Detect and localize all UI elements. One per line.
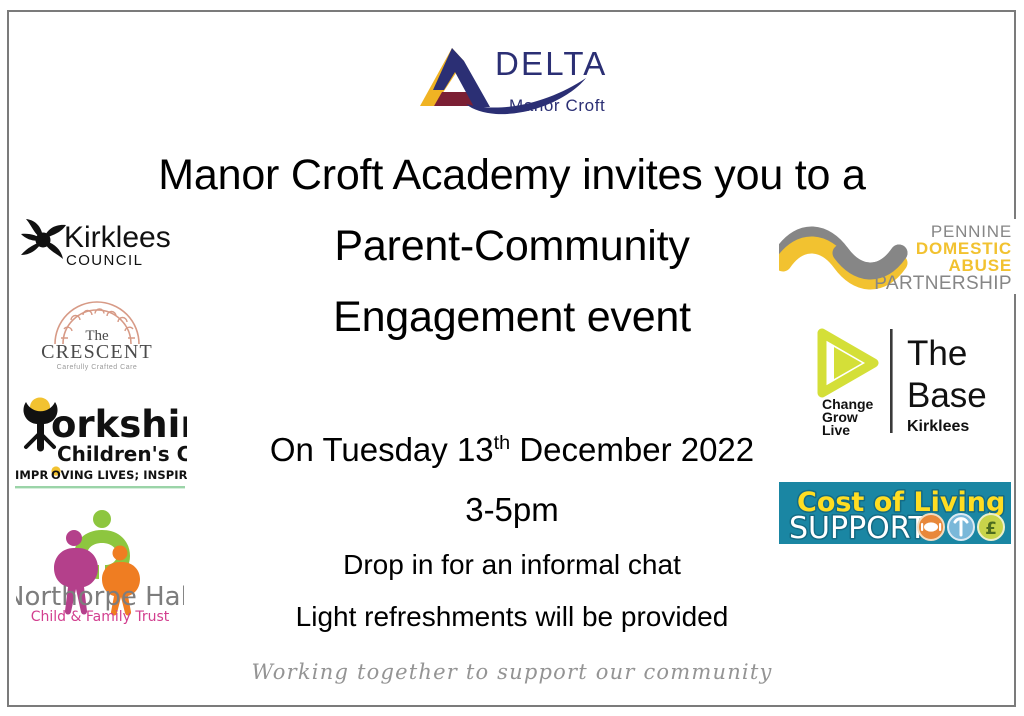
- svg-text:The: The: [907, 334, 967, 373]
- cost-of-living-support-logo: Cost of Living SUPPORT £: [779, 482, 1011, 544]
- event-date-prefix: On Tuesday 13: [270, 431, 494, 468]
- headline-line-1: Manor Croft Academy invites you to a: [150, 140, 874, 211]
- svg-text:CRESCENT: CRESCENT: [41, 341, 153, 363]
- main-text-block: Manor Croft Academy invites you to a Par…: [150, 140, 874, 635]
- svg-text:PARTNERSHIP: PARTNERSHIP: [874, 273, 1012, 294]
- svg-text:Kirklees: Kirklees: [907, 418, 969, 435]
- svg-text:SUPPORT: SUPPORT: [789, 511, 927, 544]
- money-pound-icon: £: [978, 514, 1004, 540]
- kirklees-council-logo: Kirklees COUNCIL: [16, 210, 179, 272]
- yorkshire-childrens-centre-logo: orkshire Children's Centre IMPR OVING LI…: [13, 385, 187, 495]
- event-date-suffix: December 2022: [510, 431, 754, 468]
- the-base-kirklees-logo: Change Grow Live The Base Kirklees: [812, 325, 997, 435]
- pennine-domestic-abuse-partnership-logo: PENNINE DOMESTIC ABUSE PARTNERSHIP: [779, 219, 1016, 294]
- svg-text:Child & Family Trust: Child & Family Trust: [31, 609, 170, 625]
- svg-text:COUNCIL: COUNCIL: [66, 252, 143, 269]
- svg-text:Base: Base: [907, 376, 987, 415]
- delta-manor-croft-logo: DELTA Manor Croft: [400, 28, 637, 131]
- svg-text:Carefully Crafted Care: Carefully Crafted Care: [57, 364, 138, 371]
- food-icon: [918, 514, 944, 540]
- footer-tagline: Working together to support our communit…: [0, 660, 1024, 684]
- kirklees-pinwheel-icon: [21, 219, 66, 259]
- event-info-line-2: Light refreshments will be provided: [150, 599, 874, 635]
- utility-icon: [948, 514, 974, 540]
- svg-text:Live: Live: [822, 422, 850, 435]
- headline-line-2: Parent-Community: [150, 211, 874, 282]
- divider: [890, 329, 893, 433]
- presentation-slide: DELTA Manor Croft Manor Croft Academy in…: [0, 0, 1024, 716]
- svg-text:Kirklees: Kirklees: [64, 221, 171, 254]
- the-crescent-logo: The CRESCENT Carefully Crafted Care: [27, 294, 167, 374]
- svg-text:Northorpe Hall: Northorpe Hall: [16, 582, 184, 612]
- svg-text:Manor Croft: Manor Croft: [509, 96, 605, 115]
- headline-line-3: Engagement event: [150, 282, 874, 353]
- change-grow-live-triangle-icon: [822, 333, 874, 393]
- svg-text:£: £: [985, 519, 997, 539]
- svg-text:IMPR: IMPR: [15, 468, 48, 482]
- event-date-ordinal-suffix: th: [494, 432, 511, 454]
- northorpe-hall-logo: Northorpe Hall Child & Family Trust: [16, 505, 184, 625]
- svg-text:OVING LIVES; INSPIRING CHANG: OVING LIVES; INSPIRING CHANG: [51, 468, 187, 482]
- svg-text:Children's Centre: Children's Centre: [57, 442, 187, 466]
- svg-text:DELTA: DELTA: [495, 45, 607, 82]
- svg-text:orkshire: orkshire: [51, 403, 187, 446]
- event-date: On Tuesday 13th December 2022: [150, 429, 874, 471]
- event-time: 3-5pm: [150, 489, 874, 531]
- event-info-line-1: Drop in for an informal chat: [150, 547, 874, 583]
